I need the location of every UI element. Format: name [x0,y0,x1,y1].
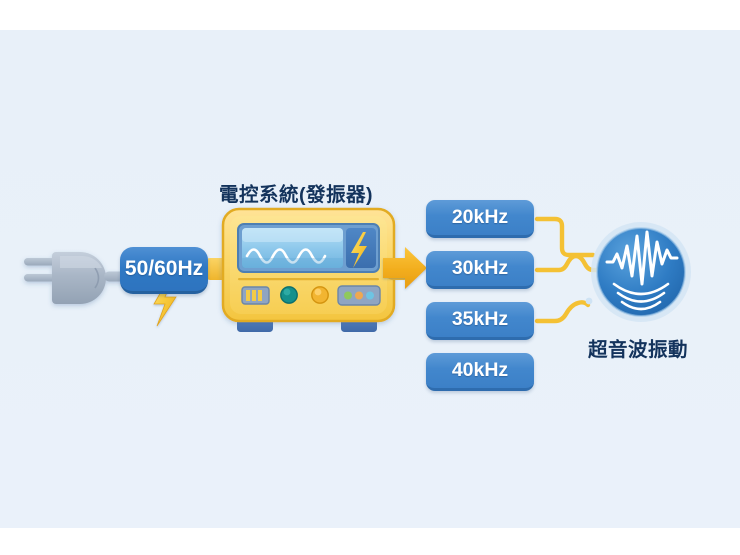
led-icon [344,292,352,300]
ultrasonic-vibration-icon [591,222,691,322]
grille-icon [242,287,269,304]
sine-waveform-icon [242,228,343,268]
diagram-artwork [0,0,740,555]
power-plug-icon [24,252,130,304]
connector-endpoint [586,298,593,305]
led-icon [366,292,374,300]
page-title: 電控系統(發振器) [219,178,373,207]
led-panel [338,286,380,305]
frequency-option-35khz[interactable]: 35kHz [426,302,534,340]
device-divider [238,278,379,280]
frequency-option-20khz[interactable]: 20kHz [426,200,534,238]
frequency-option-30khz[interactable]: 30kHz [426,251,534,289]
diagram-canvas: 電控系統(發振器) 50/60Hz 20kHz 30kHz 35kHz 40kH… [0,0,740,555]
frequency-option-40khz[interactable]: 40kHz [426,353,534,391]
ultrasonic-generator-icon [223,209,394,332]
input-frequency-pill[interactable]: 50/60Hz [120,247,208,294]
output-label: 超音波振動 [588,333,688,362]
lightning-bolt-icon [346,228,376,268]
led-icon [355,292,363,300]
